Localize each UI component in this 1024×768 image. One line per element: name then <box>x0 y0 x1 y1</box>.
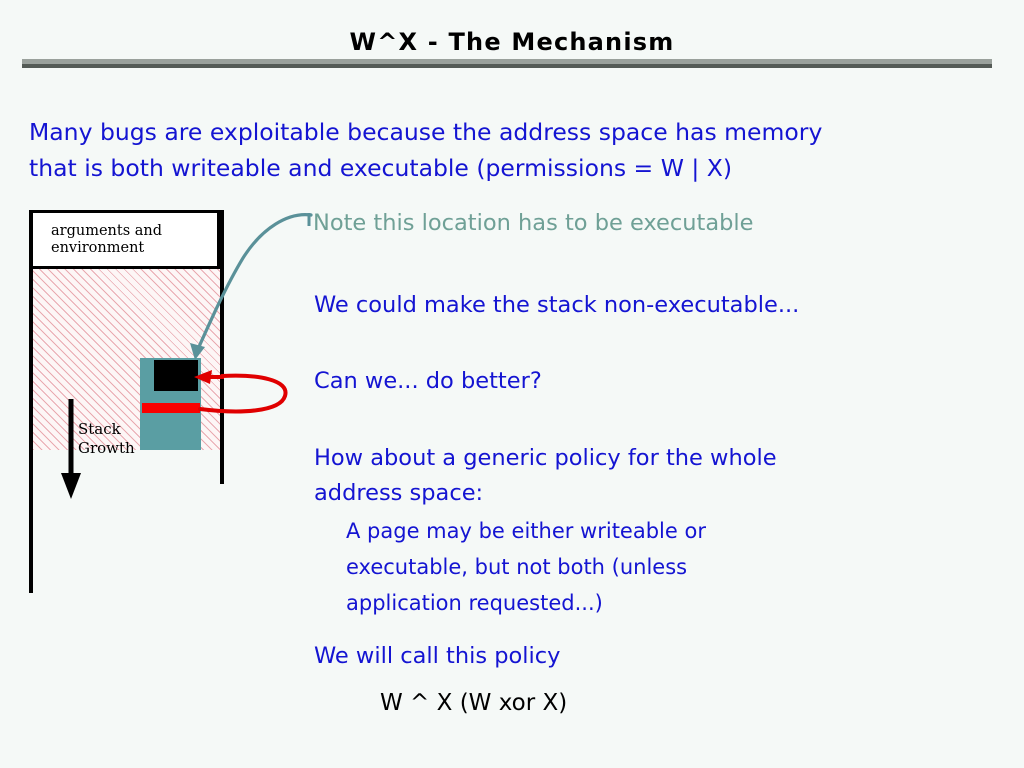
shellcode-block <box>154 360 198 391</box>
slide-canvas: W^X - The Mechanism Many bugs are exploi… <box>0 0 1024 768</box>
intro-paragraph: Many bugs are exploitable because the ad… <box>29 114 979 186</box>
bullet-nonexecutable-stack: We could make the stack non-executable..… <box>314 288 799 323</box>
executable-location-note: Note this location has to be executable <box>313 210 754 236</box>
return-address-bar <box>142 403 200 413</box>
bullet-call-this-policy: We will call this policy <box>314 639 561 674</box>
args-env-line-1: arguments and <box>51 223 162 240</box>
intro-line-2: that is both writeable and executable (p… <box>29 150 979 186</box>
args-env-line-2: environment <box>51 240 162 257</box>
stack-growth-line-1: Stack <box>78 420 135 439</box>
bullet-generic-policy: How about a generic policy for the whole… <box>314 441 777 511</box>
sub-bullet-line-2: executable, but not both (unless <box>346 549 706 585</box>
memory-layout-diagram: arguments and environment Stack Growth <box>0 195 310 605</box>
bullet-do-better-text: Can we... do better? <box>314 364 542 399</box>
arguments-environment-box: arguments and environment <box>30 210 220 269</box>
sub-bullet-line-3: application requested...) <box>346 585 706 621</box>
address-space-right-rail <box>220 210 224 484</box>
page-title: W^X - The Mechanism <box>0 28 1024 56</box>
sub-bullet-policy-definition: A page may be either writeable or execut… <box>346 513 706 621</box>
address-space-left-rail <box>29 210 33 593</box>
bullet-generic-policy-line-1: How about a generic policy for the whole <box>314 441 777 476</box>
title-divider-lower <box>22 64 992 68</box>
stack-growth-label: Stack Growth <box>78 420 135 458</box>
intro-line-1: Many bugs are exploitable because the ad… <box>29 114 979 150</box>
sub-bullet-line-1: A page may be either writeable or <box>346 513 706 549</box>
bullet-do-better: Can we... do better? <box>314 364 542 399</box>
wx-formula: W ^ X (W xor X) <box>380 690 567 716</box>
bullet-generic-policy-line-2: address space: <box>314 476 777 511</box>
stack-growth-line-2: Growth <box>78 439 135 458</box>
title-divider <box>22 59 992 68</box>
arguments-environment-label: arguments and environment <box>51 223 162 257</box>
bullet-nonexecutable-stack-text: We could make the stack non-executable..… <box>314 288 799 323</box>
bullet-call-this-policy-text: We will call this policy <box>314 639 561 674</box>
